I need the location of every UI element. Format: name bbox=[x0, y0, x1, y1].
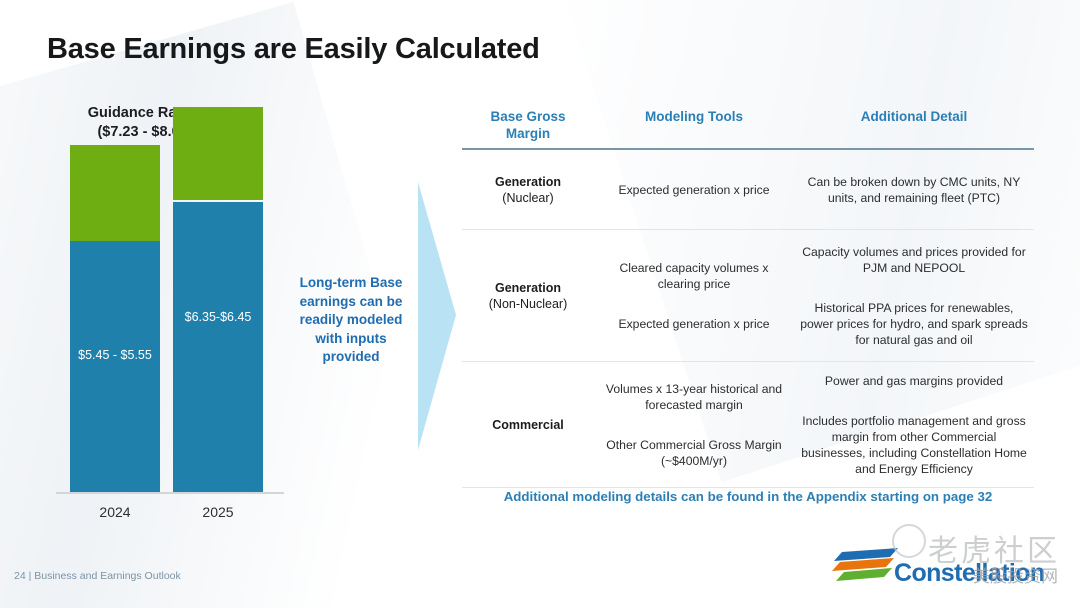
table-cell-detail: Power and gas margins provided Includes … bbox=[794, 361, 1034, 489]
x-axis-tick-2024: 2024 bbox=[70, 504, 160, 520]
table-row[interactable]: Generation (Non-Nuclear) Cleared capacit… bbox=[462, 230, 1034, 362]
x-axis-line bbox=[56, 492, 284, 494]
table-row-category: Commercial bbox=[462, 417, 594, 433]
table-row[interactable]: Generation (Nuclear) Expected generation… bbox=[462, 150, 1034, 230]
table-row-category: Generation (Non-Nuclear) bbox=[462, 280, 594, 312]
stacked-bar-chart: Guidance Range ($7.23 - $8.03) $5.45 - $… bbox=[40, 104, 300, 524]
bar-2025-value-label: $6.35-$6.45 bbox=[173, 310, 263, 324]
bar-2024-upside-segment bbox=[70, 145, 160, 241]
table-header-additional-detail: Additional Detail bbox=[794, 108, 1034, 125]
table-row-category: Generation (Nuclear) bbox=[462, 174, 594, 206]
bar-2025-base-segment: $6.35-$6.45 bbox=[173, 202, 263, 493]
table-row-category-name: Commercial bbox=[462, 417, 594, 433]
table-header-row: Base Gross Margin Modeling Tools Additio… bbox=[462, 108, 1034, 150]
right-arrow-icon bbox=[412, 182, 456, 450]
x-axis-tick-2025: 2025 bbox=[173, 504, 263, 520]
constellation-wordmark: Constellation bbox=[894, 559, 1045, 588]
callout-text: Long-term Base earnings can be readily m… bbox=[288, 274, 414, 367]
constellation-logo: Constellation bbox=[832, 538, 1062, 594]
page-title: Base Earnings are Easily Calculated bbox=[47, 33, 540, 66]
slide-footer-label: 24 | Business and Earnings Outlook bbox=[14, 570, 181, 582]
table-cell-tools: Expected generation x price bbox=[594, 182, 794, 198]
chart-plot-area: $5.45 - $5.55 $6.35-$6.45 2024 2025 bbox=[40, 104, 300, 524]
table-header-modeling-tools: Modeling Tools bbox=[594, 108, 794, 125]
table-cell-tools: Volumes x 13-year historical and forecas… bbox=[594, 369, 794, 481]
table-cell-detail: Can be broken down by CMC units, NY unit… bbox=[794, 174, 1034, 206]
bar-2025-upside-segment bbox=[173, 107, 263, 200]
bar-2024-value-label: $5.45 - $5.55 bbox=[70, 348, 160, 362]
appendix-note: Additional modeling details can be found… bbox=[462, 489, 1034, 504]
table-cell-tools: Cleared capacity volumes x clearing pric… bbox=[594, 248, 794, 344]
bar-2024-base-segment: $5.45 - $5.55 bbox=[70, 241, 160, 493]
table-row-category-sub: (Nuclear) bbox=[462, 190, 594, 206]
bar-2025[interactable]: $6.35-$6.45 bbox=[173, 107, 263, 493]
table-row-category-sub: (Non-Nuclear) bbox=[462, 296, 594, 312]
table-cell-detail: Capacity volumes and prices provided for… bbox=[794, 232, 1034, 360]
table-row-category-name: Generation bbox=[462, 280, 594, 296]
bar-2024[interactable]: $5.45 - $5.55 bbox=[70, 145, 160, 493]
table-row-category-name: Generation bbox=[462, 174, 594, 190]
table-header-base-gross-margin: Base Gross Margin bbox=[462, 108, 594, 142]
slide-canvas: Base Earnings are Easily Calculated Guid… bbox=[0, 0, 1080, 608]
table-row[interactable]: Commercial Volumes x 13-year historical … bbox=[462, 362, 1034, 488]
modeling-table: Base Gross Margin Modeling Tools Additio… bbox=[462, 108, 1034, 488]
